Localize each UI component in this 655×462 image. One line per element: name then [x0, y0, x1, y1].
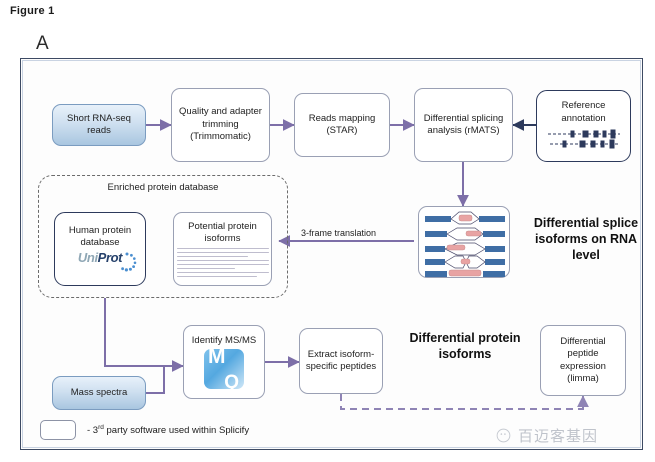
enriched-db-title: Enriched protein database: [39, 182, 287, 193]
node-differential-splicing-analysis[interactable]: Differential splicing analysis (rMATS): [414, 88, 513, 162]
annotation-3-frame-translation: 3-frame translation: [301, 228, 376, 238]
uniprot-logo: UniProt: [63, 252, 137, 274]
watermark: 百迈客基因: [495, 425, 598, 446]
legend-prefix: - 3: [87, 425, 98, 436]
node-short-rna-seq-reads[interactable]: Short RNA-seq reads: [52, 104, 146, 146]
figure-label: Figure 1: [10, 5, 54, 17]
node-mass-spectra[interactable]: Mass spectra: [52, 376, 146, 410]
node-potential-protein-isoforms[interactable]: Potential protein isoforms: [173, 212, 272, 286]
wechat-icon: [495, 427, 512, 444]
node-label: Human protein database: [59, 225, 141, 250]
node-label: Reference annotation: [541, 100, 626, 125]
legend-suffix: party software used within Splicify: [104, 425, 249, 436]
node-label: Reads mapping (STAR): [299, 113, 385, 138]
node-label: Differential peptide expression (limma): [545, 336, 621, 386]
node-label: Extract isoform-specific peptides: [304, 349, 378, 374]
legend-text: - 3rd party software used within Splicif…: [87, 424, 249, 436]
splice-isoform-icon: [419, 207, 511, 279]
legend-swatch-3rd-party: [40, 420, 76, 440]
node-label: Mass spectra: [71, 387, 128, 400]
node-splice-isoform-graphic[interactable]: [418, 206, 510, 278]
panel-letter: A: [36, 33, 49, 55]
node-quality-adapter-trimming[interactable]: Quality and adapter trimming (Trimmomati…: [171, 88, 270, 162]
fasta-lines-icon: [177, 248, 269, 278]
annotation-differential-splice-isoforms-rna: Differential splice isoforms on RNA leve…: [522, 215, 650, 263]
node-label: Potential protein isoforms: [178, 221, 267, 246]
watermark-text: 百迈客基因: [518, 425, 598, 446]
node-reads-mapping[interactable]: Reads mapping (STAR): [294, 93, 390, 157]
legend: - 3rd party software used within Splicif…: [40, 420, 249, 440]
node-label: Short RNA-seq reads: [57, 113, 141, 138]
node-human-protein-database[interactable]: Human protein database UniProt: [54, 212, 146, 286]
gene-model-icon: [545, 128, 623, 150]
node-label: Quality and adapter trimming (Trimmomati…: [176, 106, 265, 144]
node-identify-ms-ms[interactable]: Identify MS/MS MQ: [183, 325, 265, 399]
node-reference-annotation[interactable]: Reference annotation: [536, 90, 631, 162]
node-label: Differential splicing analysis (rMATS): [419, 113, 508, 138]
node-differential-peptide-expression[interactable]: Differential peptide expression (limma): [540, 325, 626, 396]
maxquant-logo: MQ: [204, 349, 244, 389]
annotation-differential-protein-isoforms: Differential protein isoforms: [405, 330, 525, 362]
node-extract-isoform-specific-peptides[interactable]: Extract isoform-specific peptides: [299, 328, 383, 394]
